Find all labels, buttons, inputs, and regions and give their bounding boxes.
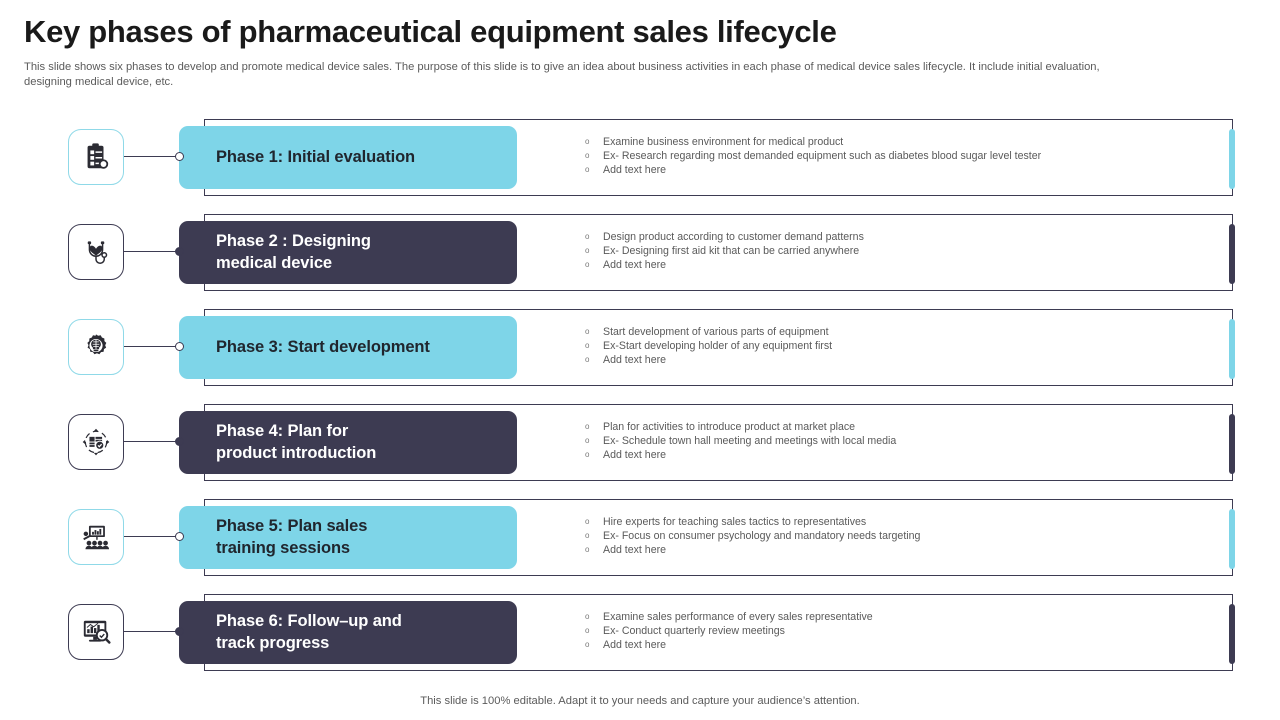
phase-rows: Phase 1: Initial evaluationoExamine busi… (0, 116, 1280, 686)
list-item: oEx-Start developing holder of any equip… (585, 339, 1215, 353)
bullet-marker-icon: o (585, 135, 603, 149)
list-item: oExamine business environment for medica… (585, 135, 1215, 149)
connector-line (124, 156, 180, 157)
bullet-text: Examine business environment for medical… (603, 135, 1215, 149)
phase-row: Phase 1: Initial evaluationoExamine busi… (0, 116, 1280, 211)
bullet-marker-icon: o (585, 149, 603, 163)
bullet-text: Ex- Conduct quarterly review meetings (603, 624, 1215, 638)
phase-icon-badge[interactable] (68, 509, 124, 565)
bullet-text: Add text here (603, 353, 1215, 367)
bullet-marker-icon: o (585, 258, 603, 272)
bullet-marker-icon: o (585, 638, 603, 652)
bullet-text: Ex- Designing first aid kit that can be … (603, 244, 1215, 258)
bullet-marker-icon: o (585, 434, 603, 448)
list-item: oAdd text here (585, 543, 1215, 557)
connector-node (175, 437, 184, 446)
bullet-marker-icon: o (585, 325, 603, 339)
bullet-marker-icon: o (585, 543, 603, 557)
connector-line (124, 441, 180, 442)
phase-label: Phase 1: Initial evaluation (216, 147, 415, 168)
bullet-marker-icon: o (585, 353, 603, 367)
clipboard-checklist-search-icon (81, 142, 111, 172)
gear-brain-idea-icon (81, 332, 111, 362)
phase-pill-6[interactable]: Phase 6: Follow–up and track progress (179, 601, 517, 664)
phase-row: Phase 3: Start developmentoStart develop… (0, 306, 1280, 401)
phase-bullet-list: oStart development of various parts of e… (585, 325, 1215, 368)
connector-node (175, 152, 184, 161)
phase-label: Phase 6: Follow–up and track progress (216, 611, 402, 654)
connector-node (175, 247, 184, 256)
monitor-analytics-search-icon (81, 617, 111, 647)
phase-accent-bar (1229, 319, 1235, 379)
bullet-marker-icon: o (585, 163, 603, 177)
footer-note: This slide is 100% editable. Adapt it to… (0, 695, 1280, 707)
phase-icon-badge[interactable] (68, 224, 124, 280)
bullet-marker-icon: o (585, 230, 603, 244)
phase-pill-3[interactable]: Phase 3: Start development (179, 316, 517, 379)
list-item: oAdd text here (585, 448, 1215, 462)
phase-row: Phase 6: Follow–up and track progressoEx… (0, 591, 1280, 686)
list-item: oExamine sales performance of every sale… (585, 610, 1215, 624)
bullet-text: Add text here (603, 448, 1215, 462)
connector-line (124, 346, 180, 347)
phase-icon-badge[interactable] (68, 319, 124, 375)
list-item: oStart development of various parts of e… (585, 325, 1215, 339)
list-item: oAdd text here (585, 163, 1215, 177)
phase-label: Phase 5: Plan sales training sessions (216, 516, 367, 559)
bullet-marker-icon: o (585, 624, 603, 638)
phase-icon-badge[interactable] (68, 604, 124, 660)
product-launch-checkmark-icon (81, 427, 111, 457)
phase-icon-badge[interactable] (68, 129, 124, 185)
phase-bullet-list: oExamine sales performance of every sale… (585, 610, 1215, 653)
list-item: oHire experts for teaching sales tactics… (585, 515, 1215, 529)
page-title: Key phases of pharmaceutical equipment s… (24, 14, 1144, 50)
bullet-text: Examine sales performance of every sales… (603, 610, 1215, 624)
bullet-text: Ex- Research regarding most demanded equ… (603, 149, 1215, 163)
phase-accent-bar (1229, 414, 1235, 474)
training-presentation-audience-icon (81, 522, 111, 552)
phase-label: Phase 3: Start development (216, 337, 430, 358)
phase-accent-bar (1229, 224, 1235, 284)
bullet-text: Add text here (603, 543, 1215, 557)
bullet-text: Design product according to customer dem… (603, 230, 1215, 244)
bullet-text: Hire experts for teaching sales tactics … (603, 515, 1215, 529)
connector-node (175, 532, 184, 541)
bullet-text: Add text here (603, 258, 1215, 272)
bullet-marker-icon: o (585, 244, 603, 258)
phase-pill-2[interactable]: Phase 2 : Designing medical device (179, 221, 517, 284)
slide-canvas: Key phases of pharmaceutical equipment s… (0, 0, 1280, 720)
bullet-text: Ex-Start developing holder of any equipm… (603, 339, 1215, 353)
connector-line (124, 251, 180, 252)
list-item: oEx- Schedule town hall meeting and meet… (585, 434, 1215, 448)
connector-line (124, 536, 180, 537)
bullet-text: Ex- Schedule town hall meeting and meeti… (603, 434, 1215, 448)
bullet-text: Plan for activities to introduce product… (603, 420, 1215, 434)
phase-accent-bar (1229, 509, 1235, 569)
phase-bullet-list: oHire experts for teaching sales tactics… (585, 515, 1215, 558)
phase-label: Phase 2 : Designing medical device (216, 231, 371, 274)
list-item: oEx- Research regarding most demanded eq… (585, 149, 1215, 163)
phase-label: Phase 4: Plan for product introduction (216, 421, 376, 464)
phase-pill-4[interactable]: Phase 4: Plan for product introduction (179, 411, 517, 474)
bullet-marker-icon: o (585, 339, 603, 353)
bullet-marker-icon: o (585, 420, 603, 434)
connector-node (175, 342, 184, 351)
bullet-marker-icon: o (585, 515, 603, 529)
list-item: oAdd text here (585, 258, 1215, 272)
phase-icon-badge[interactable] (68, 414, 124, 470)
list-item: oDesign product according to customer de… (585, 230, 1215, 244)
list-item: oPlan for activities to introduce produc… (585, 420, 1215, 434)
phase-bullet-list: oDesign product according to customer de… (585, 230, 1215, 273)
phase-pill-5[interactable]: Phase 5: Plan sales training sessions (179, 506, 517, 569)
phase-pill-1[interactable]: Phase 1: Initial evaluation (179, 126, 517, 189)
bullet-marker-icon: o (585, 448, 603, 462)
bullet-text: Ex- Focus on consumer psychology and man… (603, 529, 1215, 543)
list-item: oEx- Focus on consumer psychology and ma… (585, 529, 1215, 543)
connector-line (124, 631, 180, 632)
bullet-marker-icon: o (585, 610, 603, 624)
slide-header: Key phases of pharmaceutical equipment s… (24, 14, 1144, 90)
list-item: oAdd text here (585, 638, 1215, 652)
slide-subtitle: This slide shows six phases to develop a… (24, 60, 1122, 90)
phase-accent-bar (1229, 604, 1235, 664)
phase-row: Phase 4: Plan for product introductionoP… (0, 401, 1280, 496)
bullet-text: Start development of various parts of eq… (603, 325, 1215, 339)
bullet-text: Add text here (603, 638, 1215, 652)
phase-row: Phase 2 : Designing medical deviceoDesig… (0, 211, 1280, 306)
phase-accent-bar (1229, 129, 1235, 189)
bullet-text: Add text here (603, 163, 1215, 177)
phase-bullet-list: oExamine business environment for medica… (585, 135, 1215, 178)
list-item: oEx- Designing first aid kit that can be… (585, 244, 1215, 258)
phase-bullet-list: oPlan for activities to introduce produc… (585, 420, 1215, 463)
list-item: oAdd text here (585, 353, 1215, 367)
stethoscope-heart-icon (81, 237, 111, 267)
phase-row: Phase 5: Plan sales training sessionsoHi… (0, 496, 1280, 591)
list-item: oEx- Conduct quarterly review meetings (585, 624, 1215, 638)
bullet-marker-icon: o (585, 529, 603, 543)
connector-node (175, 627, 184, 636)
